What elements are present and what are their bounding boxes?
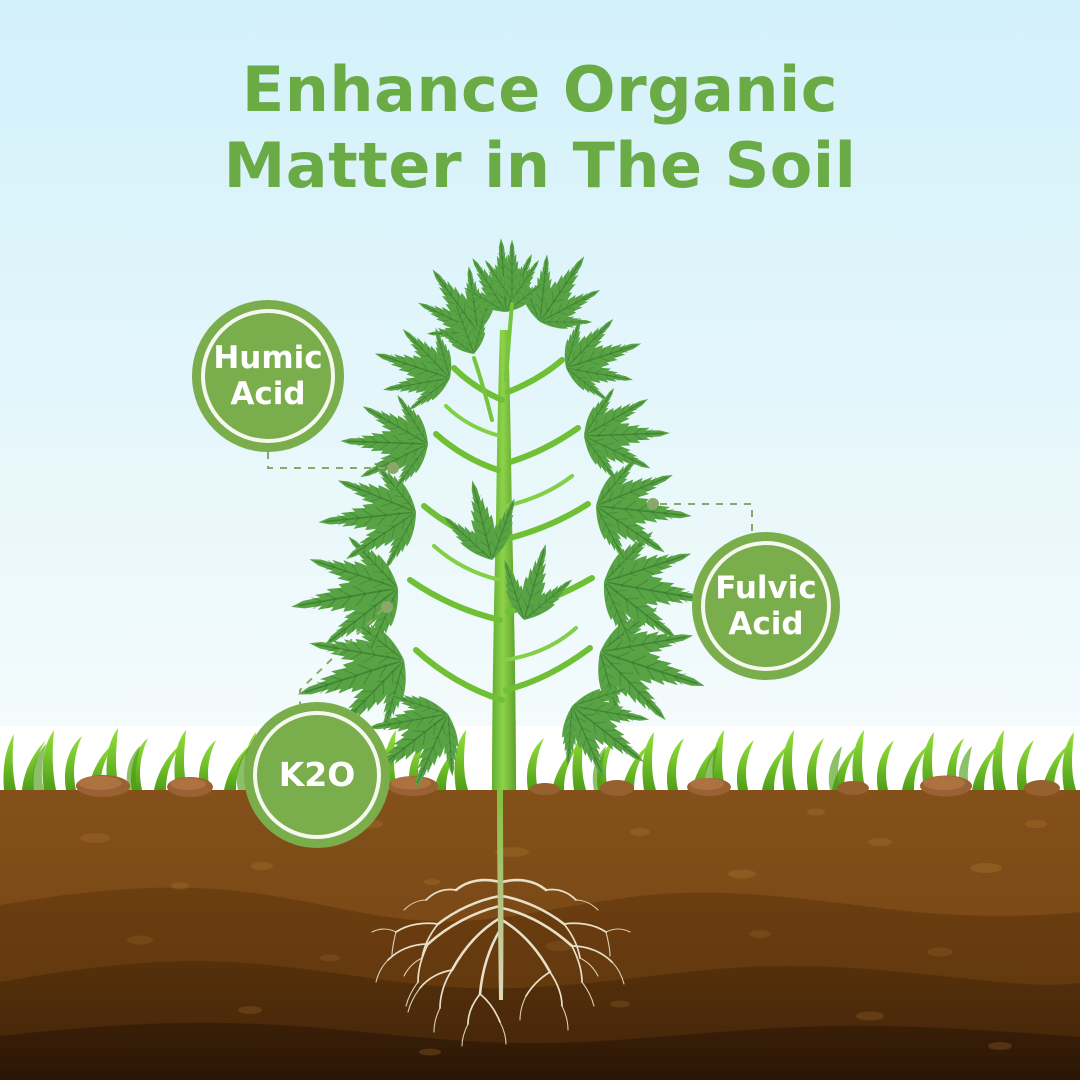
badge-fulvic-acid[interactable]: FulvicAcid xyxy=(692,532,840,680)
infographic-canvas: Enhance Organic Matter in The Soil Humic… xyxy=(0,0,1080,1080)
endpoint-fulvic-dot xyxy=(647,498,659,510)
badge-humic-acid[interactable]: HumicAcid xyxy=(192,300,344,452)
page-title: Enhance Organic Matter in The Soil xyxy=(0,52,1080,204)
badge-humic-acid-label: HumicAcid xyxy=(207,340,328,412)
badge-k2o[interactable]: K2O xyxy=(244,702,390,848)
endpoint-k2o-dot xyxy=(381,601,393,613)
badge-k2o-label: K2O xyxy=(273,757,362,793)
badge-fulvic-acid-label: FulvicAcid xyxy=(709,570,823,642)
endpoint-humic-dot xyxy=(387,462,399,474)
soil-layers xyxy=(0,789,1080,1080)
title-line-1: Enhance Organic xyxy=(0,52,1080,128)
connector-fulvic xyxy=(660,504,752,534)
connector-humic xyxy=(268,452,388,468)
title-line-2: Matter in The Soil xyxy=(0,128,1080,204)
